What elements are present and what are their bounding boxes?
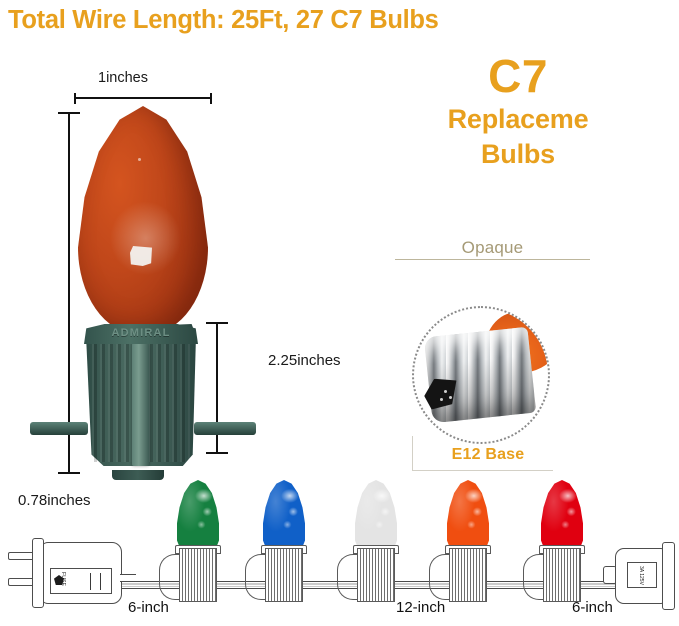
inset-tip-dot	[444, 390, 447, 393]
lamp-sheen	[541, 480, 583, 552]
lamp-socket	[449, 548, 487, 602]
e12-base-zoom-inset	[412, 306, 550, 444]
plug-wire-exit	[120, 574, 136, 582]
product-subtitle-line2: Bulbs	[368, 137, 668, 173]
finish-callout: Opaque	[395, 238, 590, 260]
overall-height-dimension-line	[58, 112, 80, 474]
product-model: C7	[368, 52, 668, 102]
lamp-sheen	[447, 480, 489, 552]
lamp-socket	[543, 548, 581, 602]
socket-wire-right	[194, 422, 256, 435]
infographic-canvas: Total Wire Length: 25Ft, 27 C7 Bulbs C7 …	[0, 0, 679, 626]
socket-height-dimension-label: 2.25inches	[268, 352, 341, 369]
dimension-bar	[74, 97, 212, 99]
socket-brand-emboss: ADMIRAL	[98, 327, 184, 339]
lamp-socket	[357, 548, 395, 602]
end-connector-cap	[662, 542, 675, 610]
power-plug: FUSE	[8, 536, 126, 610]
plug-fuse-line	[90, 573, 91, 590]
page-title: Total Wire Length: 25Ft, 27 C7 Bulbs	[8, 6, 676, 35]
dimension-tick-right	[210, 93, 212, 104]
lamp-sheen	[177, 480, 219, 552]
featured-bulb-socket: ADMIRAL	[82, 324, 200, 474]
inset-tip-dot	[449, 396, 452, 399]
bulb-specular-highlight	[130, 246, 152, 266]
lamp-socket	[265, 548, 303, 602]
plug-prong	[8, 552, 35, 560]
socket-wire-left	[30, 422, 88, 435]
lamp-glass	[263, 480, 305, 552]
lamp-socket	[179, 548, 217, 602]
segment-label-last: 6-inch	[572, 599, 613, 616]
width-dimension-label: 1inches	[98, 70, 148, 86]
end-connector-micro-text: 3A 125V	[637, 566, 643, 585]
product-subtitle-line1: Replaceme	[368, 102, 668, 138]
dimension-tick-bottom	[206, 452, 228, 454]
width-dimension-line	[74, 93, 212, 103]
e12-base-label: E12 Base	[428, 446, 548, 464]
lamp-sheen	[263, 480, 305, 552]
lamp-glass	[355, 480, 397, 552]
segment-label-first: 6-inch	[128, 599, 169, 616]
bulb-glass-body	[78, 106, 208, 334]
plug-micro-text: FUSE	[60, 572, 66, 586]
lamp-glass	[177, 480, 219, 552]
inset-tip-dot	[440, 398, 443, 401]
plug-faceplate	[32, 538, 44, 608]
plug-prong	[8, 578, 35, 586]
socket-center-rib	[132, 338, 149, 466]
segment-label-middle: 12-inch	[396, 599, 445, 616]
dimension-bar	[68, 112, 70, 474]
finish-underline	[395, 259, 590, 260]
lamp-glass	[541, 480, 583, 552]
bulb-specular-dot	[138, 158, 141, 161]
featured-bulb-glass	[78, 106, 208, 338]
lamp-sheen	[355, 480, 397, 552]
finish-label: Opaque	[395, 238, 590, 258]
product-headline: C7 Replaceme Bulbs	[368, 52, 668, 173]
plug-fuse-line	[100, 573, 101, 590]
inset-screw-shading	[424, 327, 536, 423]
lamp-glass	[447, 480, 489, 552]
light-string-diagram: FUSE	[0, 470, 679, 626]
